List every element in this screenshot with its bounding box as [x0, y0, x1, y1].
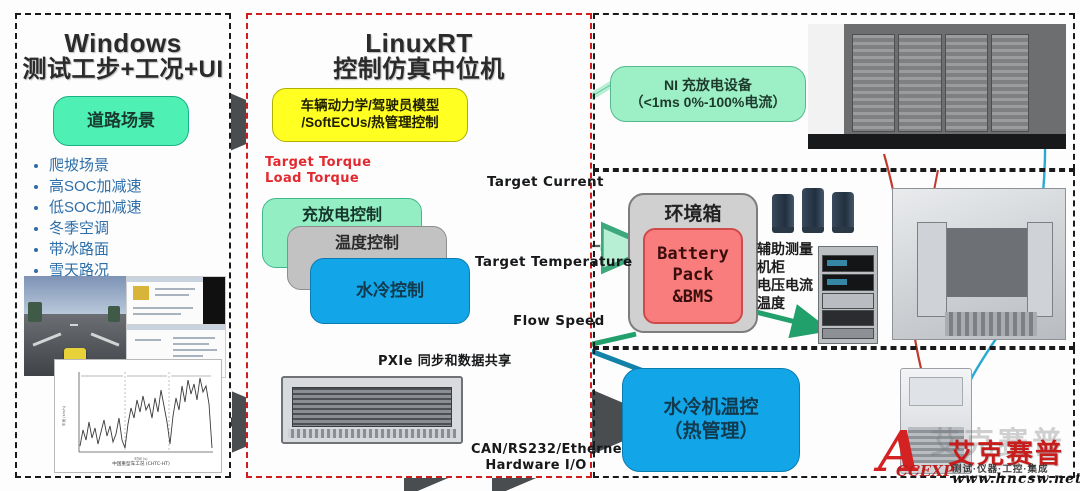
bullet-label: 低SOC加减速: [49, 197, 142, 218]
target-current-label: Target Current: [487, 174, 604, 190]
battery-cell: [772, 194, 794, 228]
windows-title-cn: 测试工步+工况+UI: [8, 55, 238, 85]
cabinet-bay: [898, 34, 941, 132]
battery-cells-photo: [770, 184, 866, 236]
cabinet-base: [808, 134, 1066, 149]
toolbar-strip: [127, 277, 203, 282]
road-scene-box[interactable]: 道路场景: [53, 96, 189, 146]
lane-marking: [70, 324, 78, 326]
bullet-dot: [34, 248, 38, 252]
text-line: [155, 294, 189, 296]
svg-text:车速 (km/h): 车速 (km/h): [61, 405, 66, 426]
cabinet-bay: [991, 34, 1029, 132]
flow-speed-label: Flow Speed: [513, 313, 605, 329]
list-item: 高SOC加减速: [34, 176, 224, 197]
battery-cell: [802, 188, 824, 228]
pxie-chassis-photo: [281, 376, 463, 444]
screen-dark-area: [203, 277, 225, 325]
list-item: 低SOC加减速: [34, 197, 224, 218]
bullet-dot: [34, 227, 38, 231]
aux-measurement-text: 辅助测量 机柜 电压电流 温度: [757, 240, 817, 312]
watermark-logo-word: CCEXP: [896, 464, 954, 479]
chart-svg: 中国重型车工况 (CHTC-HT) 时间 (s) 车速 (km/h): [55, 360, 221, 472]
chamber-door: [1027, 222, 1053, 317]
list-item: 爬坡场景: [34, 155, 224, 176]
target-temperature-label: Target Temperature: [475, 254, 633, 270]
list-item: 带冰路面: [34, 239, 224, 260]
vehicle-model-box[interactable]: 车辆动力学/驾驶员模型 /SoftECUs/热管理控制: [272, 88, 468, 142]
list-item: 冬季空调: [34, 218, 224, 239]
text-line: [173, 343, 209, 345]
bullet-label: 冬季空调: [49, 218, 109, 239]
rack-instrument: [822, 293, 873, 308]
cabinet-bay: [852, 34, 895, 132]
measurement-rack-photo: [818, 246, 878, 344]
text-line: [133, 307, 193, 309]
svg-text:时间 (s): 时间 (s): [134, 456, 148, 461]
torque-label: Target Torque Load Torque: [265, 155, 371, 187]
bullet-label: 带冰路面: [49, 239, 109, 260]
cabinet-bay: [945, 34, 988, 132]
toolbar-strip: [127, 325, 225, 330]
bullet-dot: [34, 206, 38, 210]
linuxrt-title-en: LinuxRT: [246, 28, 592, 58]
chiller-display-panel: [909, 377, 962, 406]
bullet-label: 爬坡场景: [49, 155, 109, 176]
climate-chamber-photo: [892, 188, 1066, 340]
windows-title-en: Windows: [15, 28, 231, 58]
pxie-sync-label: PXIe 同步和数据共享: [378, 350, 512, 369]
rack-instrument: [822, 328, 873, 340]
svg-text:中国重型车工况 (CHTC-HT): 中国重型车工况 (CHTC-HT): [112, 460, 170, 467]
water-cooling-control-box[interactable]: 水冷控制: [310, 258, 470, 324]
text-line: [133, 313, 181, 315]
bullet-dot: [34, 164, 38, 168]
chamber-door: [917, 222, 947, 317]
bullet-dot: [34, 185, 38, 189]
linuxrt-title-cn: 控制仿真中位机: [246, 55, 592, 85]
battery-cell: [832, 192, 854, 228]
drive-cycle-chart-screenshot: 中国重型车工况 (CHTC-HT) 时间 (s) 车速 (km/h): [54, 359, 222, 473]
watermark-url: www.hncsw.net: [952, 471, 1080, 487]
text-line: [135, 339, 161, 341]
text-line: [173, 337, 215, 339]
roadside-object: [28, 302, 42, 322]
bullet-dot: [34, 269, 38, 273]
diagram-canvas: Windows 测试工步+工况+UI 道路场景 爬坡场景 高SOC加减速 低SO…: [0, 0, 1080, 491]
ni-charger-box[interactable]: NI 充放电设备 （<1ms 0%-100%电流）: [610, 66, 806, 122]
charger-cabinet-photo: [808, 24, 1066, 149]
text-line: [173, 355, 203, 357]
pxie-slot-group: [292, 387, 452, 427]
text-line: [173, 349, 217, 351]
scenario-bullet-list: 爬坡场景 高SOC加减速 低SOC加减速 冬季空调 带冰路面 雪天路况: [34, 155, 224, 281]
rack-instrument: [822, 310, 873, 325]
icon-block: [133, 286, 149, 300]
water-chiller-box[interactable]: 水冷机温控 （热管理）: [622, 368, 800, 472]
rack-instrument: [822, 255, 873, 272]
bullet-label: 高SOC加减速: [49, 176, 142, 197]
chamber-ramp: [945, 312, 1038, 336]
bus-io-label: CAN/RS232/Ethernet Hardware I/O: [471, 442, 601, 474]
roadside-object: [108, 306, 120, 322]
rack-instrument: [822, 274, 873, 291]
test-ui-screenshot-top: [126, 276, 226, 326]
pxie-connector-rail: [288, 429, 455, 438]
chamber-interior: [941, 228, 1037, 297]
battery-pack-bms-box[interactable]: Battery Pack &BMS: [643, 228, 743, 324]
text-line: [155, 288, 195, 290]
